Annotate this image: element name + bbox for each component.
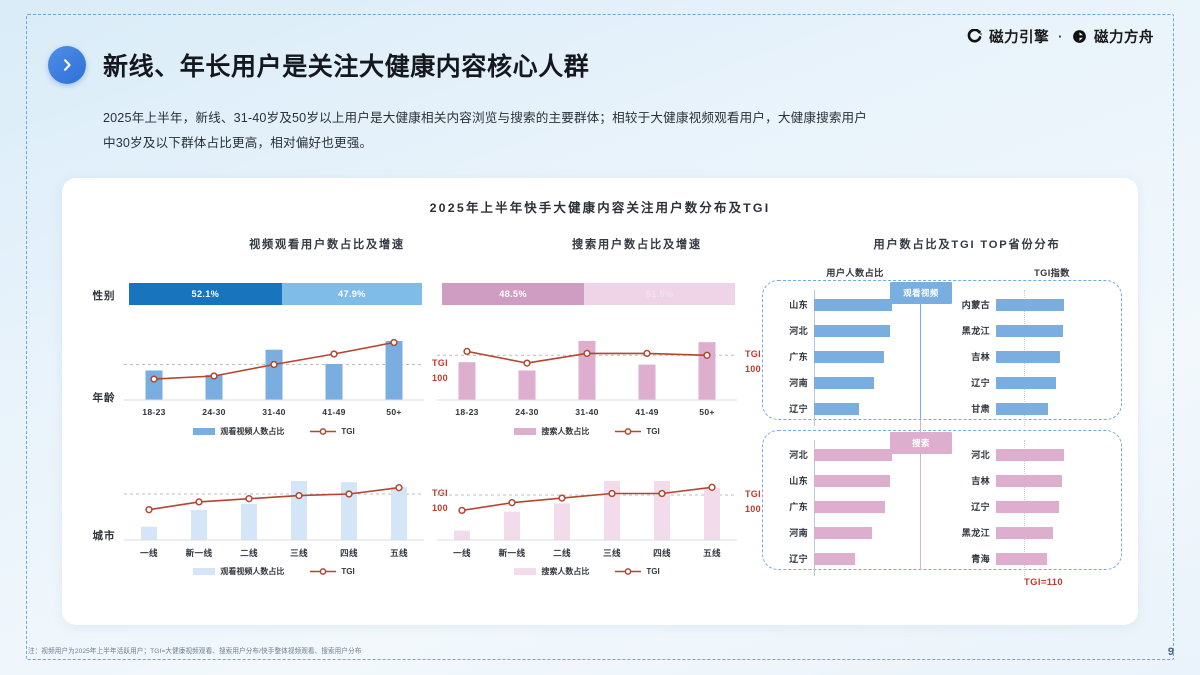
footnote: 注：视频用户为2025年上半年活跃用户；TGI=大健康视频观看、搜索用户分布/快… [28,645,361,655]
category-label-row: 18-2324-3031-4041-4950+ [124,407,424,417]
province-name: 甘肃 [952,402,990,415]
province-name: 河北 [774,324,808,337]
category-label: 41-49 [617,407,677,417]
legend-line-icon [310,567,336,576]
province-row: 辽宁 [774,550,855,567]
legend-item-bar: 观看视频人数占比 [193,426,284,437]
tgi-reference-label: TGI100 [745,487,761,517]
gender-segment-female-video: 47.9% [282,283,422,305]
province-name: 内蒙古 [952,298,990,311]
category-label: 五线 [374,547,424,559]
province-row: 山东 [774,296,892,313]
chart-legend: 观看视频人数占比TGI [124,426,424,437]
province-bar [814,475,890,487]
brand-logos: 磁力引擎 · 磁力方舟 [967,26,1154,47]
province-bar [814,449,892,461]
category-label: 50+ [677,407,737,417]
province-bar [996,449,1064,461]
province-bar [996,351,1060,363]
province-row: 河北 [774,322,890,339]
row-label-gender: 性别 [82,288,126,303]
tgi-reference-label: TGI100 [745,347,761,377]
province-name: 河南 [774,526,808,539]
province-name: 河北 [952,448,990,461]
brand-name-1: 磁力引擎 [989,26,1049,47]
category-label-row: 18-2324-3031-4041-4950+ [437,407,737,417]
tgi-ref-value: 100 [745,362,761,377]
province-bar [996,527,1053,539]
province-bar [814,377,874,389]
card-title: 2025年上半年快手大健康内容关注用户数分布及TGI [62,198,1138,216]
legend-swatch [193,428,215,435]
chevron-right-icon [48,46,86,84]
province-bar [996,475,1062,487]
province-name: 辽宁 [952,500,990,513]
chart-legend: 搜索人数占比TGI [437,566,737,577]
page-subtitle: 2025年上半年，新线、31-40岁及50岁以上用户是大健康相关内容浏览与搜索的… [103,106,1123,156]
province-bar [996,299,1064,311]
legend-item-line: TGI [615,427,659,436]
category-label: 一线 [437,547,487,559]
category-label-row: 一线新一线二线三线四线五线 [124,547,424,559]
province-bar [814,501,885,513]
legend-label: 观看视频人数占比 [220,426,284,437]
legend-item-line: TGI [310,567,354,576]
province-row: 吉林 [952,348,1060,365]
province-name: 广东 [774,500,808,513]
chart-age-video: 18-2324-3031-4041-4950+观看视频人数占比TGITGI100 [124,328,424,433]
row-label-age: 年龄 [82,390,126,405]
legend-line-icon [615,427,641,436]
legend-label: TGI [646,427,659,436]
panel-head-search: 搜索用户数占比及增速 [482,236,792,252]
province-bar [814,325,890,337]
legend-line-icon [615,567,641,576]
gender-segment-female-search: 51.5% [584,283,735,305]
province-bar [814,527,872,539]
gender-bar-video: 52.1% 47.9% [129,283,422,305]
chart-legend: 观看视频人数占比TGI [124,566,424,577]
gender-segment-male-video: 52.1% [129,283,282,305]
legend-line-icon [310,427,336,436]
panel-head-province: 用户数占比及TGI TOP省份分布 [802,236,1132,252]
category-label: 31-40 [244,407,304,417]
category-label: 四线 [324,547,374,559]
legend-swatch [514,568,536,575]
category-label: 24-30 [497,407,557,417]
category-label: 一线 [124,547,174,559]
province-row: 黑龙江 [952,322,1063,339]
province-row: 辽宁 [774,400,859,417]
legend-label: TGI [341,567,354,576]
category-label: 24-30 [184,407,244,417]
legend-label: 搜索人数占比 [541,426,589,437]
chart-card: 2025年上半年快手大健康内容关注用户数分布及TGI 视频观看用户数占比及增速 … [62,178,1138,625]
category-label: 新一线 [174,547,224,559]
page-number: 9 [1168,646,1174,658]
province-name: 辽宁 [774,552,808,565]
province-bar [814,403,859,415]
province-bar [996,553,1047,565]
tgi-ref-value: 100 [745,502,761,517]
legend-label: 观看视频人数占比 [220,566,284,577]
ciliifangzhou-logo-icon [1072,29,1087,44]
legend-swatch [514,428,536,435]
legend-item-bar: 搜索人数占比 [514,566,589,577]
province-row: 甘肃 [952,400,1048,417]
legend-item-line: TGI [310,427,354,436]
province-name: 山东 [774,298,808,311]
panel-head-video: 视频观看用户数占比及增速 [172,236,482,252]
row-label-city: 城市 [82,528,126,543]
province-name: 河南 [774,376,808,389]
category-label: 二线 [537,547,587,559]
ciliyinqing-logo-icon [967,29,982,44]
legend-label: 搜索人数占比 [541,566,589,577]
province-bar [814,299,892,311]
province-name: 黑龙江 [952,526,990,539]
category-label: 50+ [364,407,424,417]
category-label: 三线 [587,547,637,559]
province-row: 辽宁 [952,374,1056,391]
tgi-marker: TGI=110 [1024,576,1063,587]
province-row: 山东 [774,472,890,489]
subtitle-line-1: 2025年上半年，新线、31-40岁及50岁以上用户是大健康相关内容浏览与搜索的… [103,106,1123,131]
province-bar [814,553,855,565]
province-name: 黑龙江 [952,324,990,337]
gender-segment-male-search: 48.5% [442,283,584,305]
tab-video-pill[interactable]: 观看视频 [890,282,952,304]
gender-bar-search: 48.5% 51.5% [442,283,735,305]
connector-video [920,304,921,420]
chart-city-video: 一线新一线二线三线四线五线观看视频人数占比TGITGI100 [124,468,424,573]
province-row: 广东 [774,348,884,365]
brand-separator: · [1058,29,1063,44]
province-name: 吉林 [952,474,990,487]
legend-item-line: TGI [615,567,659,576]
tgi-ref-title: TGI [745,347,761,362]
province-row: 辽宁 [952,498,1059,515]
category-label: 18-23 [124,407,184,417]
legend-item-bar: 观看视频人数占比 [193,566,284,577]
page-title-row: 新线、年长用户是关注大健康内容核心人群 [48,46,589,84]
category-label: 四线 [637,547,687,559]
page-title: 新线、年长用户是关注大健康内容核心人群 [103,47,589,83]
province-row: 河南 [774,374,874,391]
province-name: 辽宁 [774,402,808,415]
brand-name-2: 磁力方舟 [1094,26,1154,47]
province-row: 河北 [952,446,1064,463]
province-name: 广东 [774,350,808,363]
legend-label: TGI [646,567,659,576]
legend-label: TGI [341,427,354,436]
province-row: 广东 [774,498,885,515]
tgi-ref-title: TGI [745,487,761,502]
category-label: 31-40 [557,407,617,417]
province-name: 河北 [774,448,808,461]
province-name: 吉林 [952,350,990,363]
province-bar [814,351,884,363]
province-col-head-share: 用户人数占比 [790,265,920,279]
province-bar [996,501,1059,513]
province-row: 青海 [952,550,1047,567]
legend-item-bar: 搜索人数占比 [514,426,589,437]
province-row: 河南 [774,524,872,541]
legend-swatch [193,568,215,575]
category-label-row: 一线新一线二线三线四线五线 [437,547,737,559]
province-bar [996,403,1048,415]
province-name: 青海 [952,552,990,565]
category-label: 新一线 [487,547,537,559]
chart-city-search: 一线新一线二线三线四线五线搜索人数占比TGITGI100 [437,468,737,573]
connector-search [920,420,921,570]
province-row: 内蒙古 [952,296,1064,313]
category-label: 18-23 [437,407,497,417]
province-name: 辽宁 [952,376,990,389]
chart-age-search: 18-2324-3031-4041-4950+搜索人数占比TGITGI100 [437,328,737,433]
province-name: 山东 [774,474,808,487]
category-label: 二线 [224,547,274,559]
category-label: 41-49 [304,407,364,417]
chart-legend: 搜索人数占比TGI [437,426,737,437]
category-label: 三线 [274,547,324,559]
province-row: 河北 [774,446,892,463]
province-col-head-tgi: TGI指数 [992,265,1112,279]
subtitle-line-2: 中30岁及以下群体占比更高，相对偏好也更强。 [103,131,1123,156]
category-label: 五线 [687,547,737,559]
province-row: 黑龙江 [952,524,1053,541]
province-row: 吉林 [952,472,1062,489]
province-bar [996,325,1063,337]
province-bar [996,377,1056,389]
